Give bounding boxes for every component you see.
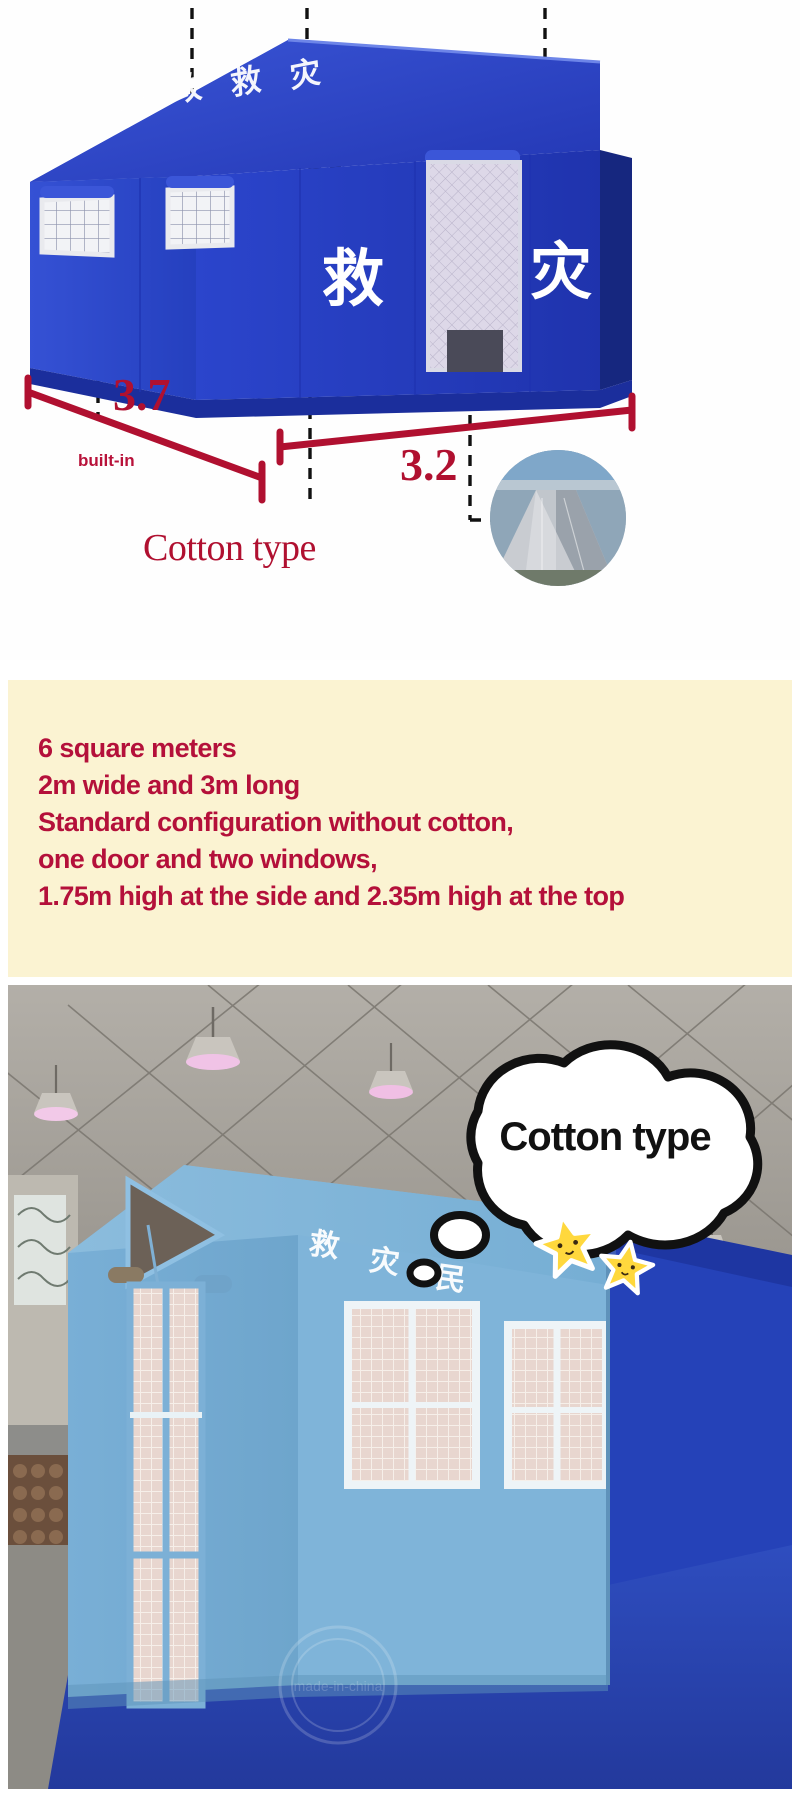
svg-text:made-in-china: made-in-china bbox=[294, 1678, 383, 1694]
svg-text:救: 救 bbox=[307, 1227, 341, 1264]
svg-text:民: 民 bbox=[116, 74, 149, 115]
svg-text:灾: 灾 bbox=[530, 238, 592, 307]
tent-window-photo bbox=[508, 1325, 606, 1485]
bubble-text-wrap: Cotton type bbox=[416, 995, 788, 1275]
product-listing-page: 民 政 救 灾 bbox=[0, 0, 800, 1797]
tent-diagram-panel: 民 政 救 灾 bbox=[0, 0, 800, 660]
svg-text:灾: 灾 bbox=[288, 54, 321, 95]
svg-text:政: 政 bbox=[170, 68, 204, 109]
svg-text:灾: 灾 bbox=[367, 1243, 401, 1281]
tent-window-photo bbox=[348, 1305, 476, 1485]
built-in-label: built-in bbox=[78, 451, 135, 471]
tent-photo-panel: 救 灾 民 bbox=[8, 985, 792, 1789]
dimension-label-width: 3.2 bbox=[400, 442, 458, 488]
tent-door bbox=[428, 162, 520, 372]
svg-text:救: 救 bbox=[322, 245, 384, 314]
tent-diagram-illustration: 民 政 救 灾 bbox=[0, 0, 800, 660]
specification-panel: 6 square meters 2m wide and 3m long Stan… bbox=[8, 680, 792, 977]
tent-inset-photo bbox=[490, 450, 626, 586]
door-roll-left bbox=[108, 1267, 144, 1283]
spec-line: one door and two windows, bbox=[38, 841, 624, 878]
dimension-label-depth: 3.7 bbox=[113, 372, 171, 418]
tent-right-wall bbox=[600, 150, 632, 390]
adjacent-blue-tent bbox=[608, 1245, 792, 1585]
specification-list: 6 square meters 2m wide and 3m long Stan… bbox=[38, 730, 624, 915]
spec-line: 1.75m high at the side and 2.35m high at… bbox=[38, 878, 624, 915]
cotton-type-caption: Cotton type bbox=[143, 526, 316, 570]
bubble-cotton-type-text: Cotton type bbox=[450, 1115, 760, 1160]
inset-photo-illustration bbox=[490, 450, 626, 586]
spec-line: 6 square meters bbox=[38, 730, 624, 767]
spec-line: 2m wide and 3m long bbox=[38, 767, 624, 804]
svg-text:救: 救 bbox=[229, 61, 262, 102]
spec-line: Standard configuration without cotton, bbox=[38, 804, 624, 841]
